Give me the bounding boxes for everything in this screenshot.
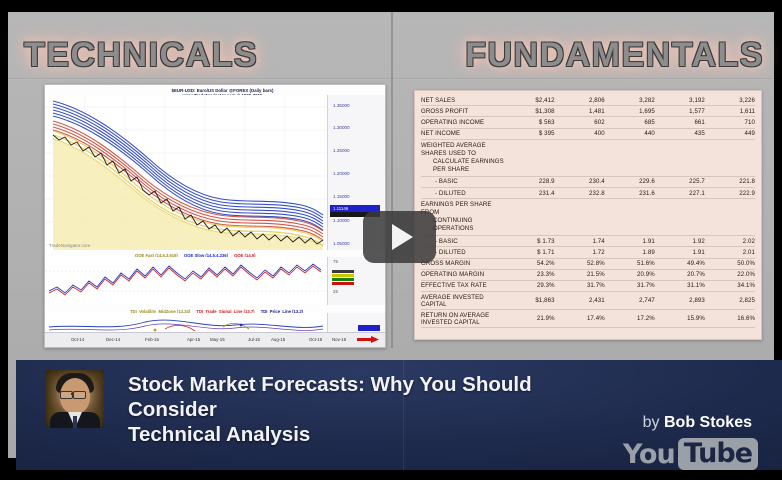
youtube-tube-text: Tube xyxy=(684,438,752,469)
color-key-block xyxy=(332,282,354,285)
table-cell-value: 51.6% xyxy=(605,258,655,269)
play-button[interactable] xyxy=(363,211,436,263)
byline-prefix: by xyxy=(643,414,664,431)
table-cell-value: $ 1.73 xyxy=(505,236,555,247)
table-row: - DILUTED231.4232.8231.6227.1222.9 xyxy=(421,187,755,198)
table-row-label: NET SALES xyxy=(421,95,505,106)
table-row-label: WEIGHTED AVERAGE SHARES USED TOCALCULATE… xyxy=(421,139,505,176)
x-tick: Apr-15 xyxy=(187,337,200,342)
table-cell-value: 1,481 xyxy=(555,106,605,117)
table-cell-value xyxy=(705,139,755,176)
table-cell-value: 21.5% xyxy=(555,269,605,280)
price-tick: 1.35000 xyxy=(333,103,350,108)
table-row-label: GROSS PROFIT xyxy=(421,106,505,117)
table-cell-value: 2,806 xyxy=(555,95,605,106)
table-cell-value: $ 395 xyxy=(505,128,555,139)
video-title-line2: Technical Analysis xyxy=(128,422,598,447)
table-cell-value: 49.4% xyxy=(655,258,705,269)
x-tick: Feb-15 xyxy=(145,337,159,342)
video-title: Stock Market Forecasts: Why You Should C… xyxy=(128,372,598,447)
video-byline: by Bob Stokes xyxy=(643,414,752,432)
table-cell-value xyxy=(605,199,655,236)
fundamentals-header: FUNDAMENTALS xyxy=(465,34,764,76)
table-row-label: GROSS MARGIN xyxy=(421,258,505,269)
play-triangle-icon xyxy=(392,224,413,250)
momentum-tick: 25 xyxy=(333,289,338,294)
x-tick: Nov-15 xyxy=(332,337,346,342)
table-cell-value: 225.7 xyxy=(655,176,705,187)
table-cell-value xyxy=(605,139,655,176)
table-cell-value xyxy=(555,139,605,176)
table-cell-value: 1.91 xyxy=(605,236,655,247)
table-cell-value: 16.6% xyxy=(705,310,755,328)
table-cell-value: 52.8% xyxy=(555,258,605,269)
table-cell-value: 2.01 xyxy=(705,247,755,258)
table-cell-value: 661 xyxy=(655,117,705,128)
table-cell-value: 221.8 xyxy=(705,176,755,187)
technical-chart: $EUR-USD: Euro/US Dollar @FOREX (Daily b… xyxy=(44,84,386,348)
table-cell-value: 440 xyxy=(605,128,655,139)
table-cell-value: 17.2% xyxy=(605,310,655,328)
table-cell-value: 685 xyxy=(605,117,655,128)
red-arrow-icon xyxy=(357,336,379,343)
youtube-tube-badge: Tube xyxy=(678,438,758,470)
table-row: - DILUTED$ 1.711.721.891.912.01 xyxy=(421,247,755,258)
table-cell-value: 2,747 xyxy=(605,292,655,310)
table-cell-value xyxy=(505,199,555,236)
table-row: OPERATING MARGIN23.3%21.5%20.9%20.7%22.0… xyxy=(421,269,755,280)
table-cell-value: 23.3% xyxy=(505,269,555,280)
table-cell-value: 232.8 xyxy=(555,187,605,198)
table-cell-value: $1,863 xyxy=(505,292,555,310)
table-cell-value: 31.1% xyxy=(655,280,705,291)
table-cell-value: $ 563 xyxy=(505,117,555,128)
color-key-block xyxy=(332,278,354,281)
table-cell-value: 2.02 xyxy=(705,236,755,247)
avatar-glasses-right xyxy=(73,391,86,399)
table-cell-value: 17.4% xyxy=(555,310,605,328)
table-cell-value: 54.2% xyxy=(505,258,555,269)
table-row: - BASIC$ 1.731.741.911.922.02 xyxy=(421,236,755,247)
table-row-label: EFFECTIVE TAX RATE xyxy=(421,280,505,291)
table-cell-value: 231.6 xyxy=(605,187,655,198)
avatar xyxy=(46,370,104,428)
table-cell-value: 50.0% xyxy=(705,258,755,269)
table-cell-value: 31.7% xyxy=(605,280,655,291)
table-cell-value: 230.4 xyxy=(555,176,605,187)
video-thumbnail: TECHNICALS FUNDAMENTALS $EUR-USD: Euro/U… xyxy=(0,0,782,480)
avatar-glasses-left xyxy=(60,391,73,399)
price-tick: 1.20000 xyxy=(333,171,350,176)
video-title-line1: Stock Market Forecasts: Why You Should C… xyxy=(128,372,598,422)
technicals-header: TECHNICALS xyxy=(24,34,258,76)
fundamentals-table: NET SALES$2,4122,8063,2823,1923,226GROSS… xyxy=(421,95,755,328)
table-cell-value: 29.3% xyxy=(505,280,555,291)
table-row: GROSS PROFIT$1,3081,4811,6951,5771,611 xyxy=(421,106,755,117)
table-row-label: OPERATING MARGIN xyxy=(421,269,505,280)
price-ribbon-svg xyxy=(45,95,328,250)
table-cell-value: $ 1.71 xyxy=(505,247,555,258)
table-row: RETURN ON AVERAGE INVESTED CAPITAL21.9%1… xyxy=(421,310,755,328)
table-cell-value: 3,192 xyxy=(655,95,705,106)
letterbox-left xyxy=(0,0,8,480)
price-tick: 1.05000 xyxy=(333,241,350,246)
table-cell-value xyxy=(505,139,555,176)
byline-author: Bob Stokes xyxy=(664,414,752,431)
momentum-tick: 75 xyxy=(333,259,338,264)
table-row-label: OPERATING INCOME xyxy=(421,117,505,128)
table-cell-value: 435 xyxy=(655,128,705,139)
table-row-label: - DILUTED xyxy=(421,187,505,198)
table-row: EFFECTIVE TAX RATE29.3%31.7%31.7%31.1%34… xyxy=(421,280,755,291)
price-tick: 1.25000 xyxy=(333,148,350,153)
table-cell-value: 1,577 xyxy=(655,106,705,117)
table-row-label: NET INCOME xyxy=(421,128,505,139)
table-row: NET INCOME$ 395400440435449 xyxy=(421,128,755,139)
table-row: OPERATING INCOME$ 563602685661710 xyxy=(421,117,755,128)
panel-split-line xyxy=(391,12,393,348)
table-cell-value: 3,282 xyxy=(605,95,655,106)
table-row-label: AVERAGE INVESTED CAPITAL xyxy=(421,292,505,310)
youtube-you-text: You xyxy=(623,439,675,470)
x-tick: Oct-15 xyxy=(309,337,322,342)
x-tick: Jul-15 xyxy=(248,337,260,342)
table-row-label: RETURN ON AVERAGE INVESTED CAPITAL xyxy=(421,310,505,328)
table-cell-value: 34.1% xyxy=(705,280,755,291)
table-row-label-continued: CALCULATE EARNINGS PER SHARE xyxy=(421,158,505,174)
table-cell-value: 1.89 xyxy=(605,247,655,258)
table-cell-value: 1.92 xyxy=(655,236,705,247)
table-cell-value: 228.9 xyxy=(505,176,555,187)
avatar-tie xyxy=(73,416,77,428)
momentum-pane xyxy=(45,257,328,305)
price-tick: 1.10000 xyxy=(333,218,350,223)
table-cell-value: 227.1 xyxy=(655,187,705,198)
table-cell-value: 602 xyxy=(555,117,605,128)
table-row: WEIGHTED AVERAGE SHARES USED TOCALCULATE… xyxy=(421,139,755,176)
table-cell-value: 1.91 xyxy=(655,247,705,258)
table-cell-value: $1,308 xyxy=(505,106,555,117)
table-cell-value: 231.4 xyxy=(505,187,555,198)
table-cell-value: 1.72 xyxy=(555,247,605,258)
avatar-glasses-bridge xyxy=(71,393,74,394)
table-cell-value: 2,431 xyxy=(555,292,605,310)
momentum-scale: 75 25 xyxy=(327,257,385,305)
table-row: EARNINGS PER SHARE FROMCONTINUING OPERAT… xyxy=(421,199,755,236)
table-row: - BASIC228.9230.4229.6225.7221.8 xyxy=(421,176,755,187)
price-tick: 1.30000 xyxy=(333,125,350,130)
table-cell-value xyxy=(705,199,755,236)
x-tick: Oct-14 xyxy=(71,337,84,342)
table-row-label: - BASIC xyxy=(421,176,505,187)
table-cell-value: 1,611 xyxy=(705,106,755,117)
table-cell-value: 15.9% xyxy=(655,310,705,328)
table-row: AVERAGE INVESTED CAPITAL$1,8632,4312,747… xyxy=(421,292,755,310)
current-price-value: 1.11146 xyxy=(333,206,348,211)
table-row: GROSS MARGIN54.2%52.8%51.6%49.4%50.0% xyxy=(421,258,755,269)
table-cell-value xyxy=(655,199,705,236)
table-cell-value: 1.74 xyxy=(555,236,605,247)
tdi-key-block xyxy=(358,325,380,331)
table-cell-value: 1,695 xyxy=(605,106,655,117)
letterbox-top xyxy=(0,0,782,12)
table-cell-value: 21.9% xyxy=(505,310,555,328)
table-cell-value xyxy=(655,139,705,176)
momentum-svg xyxy=(45,257,328,305)
table-cell-value: 20.7% xyxy=(655,269,705,280)
table-cell-value: 222.9 xyxy=(705,187,755,198)
table-cell-value: 449 xyxy=(705,128,755,139)
video-info-band: Stock Market Forecasts: Why You Should C… xyxy=(16,360,782,470)
table-cell-value: $2,412 xyxy=(505,95,555,106)
chart-x-axis: Oct-14 Dec-14 Feb-15 Apr-15 May-15 Jul-1… xyxy=(45,332,385,347)
table-cell-value: 22.0% xyxy=(705,269,755,280)
table-cell-value: 2,825 xyxy=(705,292,755,310)
x-tick: May-15 xyxy=(210,337,225,342)
table-cell-value: 400 xyxy=(555,128,605,139)
slide-body: TECHNICALS FUNDAMENTALS $EUR-USD: Euro/U… xyxy=(8,12,774,458)
chart-watermark: TradeNavigator.com xyxy=(49,243,90,248)
table-cell-value xyxy=(555,199,605,236)
youtube-logo: You Tube xyxy=(623,438,758,470)
x-tick: Dec-14 xyxy=(106,337,120,342)
table-cell-value: 20.9% xyxy=(605,269,655,280)
price-pane xyxy=(45,95,328,250)
table-cell-value: 229.6 xyxy=(605,176,655,187)
fundamentals-table-panel: NET SALES$2,4122,8063,2823,1923,226GROSS… xyxy=(414,90,762,340)
x-tick: Aug-15 xyxy=(271,337,285,342)
price-tick: 1.15000 xyxy=(333,194,350,199)
table-cell-value: 2,893 xyxy=(655,292,705,310)
color-key-block xyxy=(332,270,354,273)
table-cell-value: 710 xyxy=(705,117,755,128)
table-cell-value: 3,226 xyxy=(705,95,755,106)
table-cell-value: 31.7% xyxy=(555,280,605,291)
table-row: NET SALES$2,4122,8063,2823,1923,226 xyxy=(421,95,755,106)
color-key-block xyxy=(332,274,354,277)
